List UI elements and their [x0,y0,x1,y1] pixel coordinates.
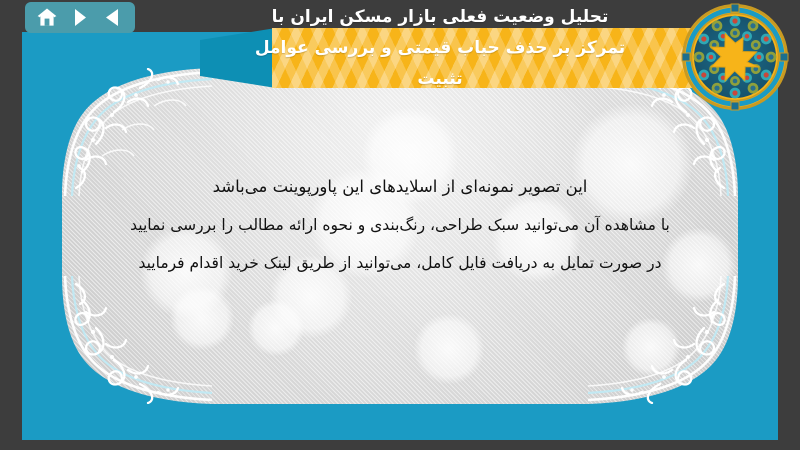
slide-preview-stage: این تصویر نمونه‌ای از اسلایدهای این پاور… [0,0,800,450]
navigation-bar [25,2,135,33]
title-line: تمرکز بر حذف حباب قیمتی و بررسی عوامل [230,33,650,64]
body-line: این تصویر نمونه‌ای از اسلایدهای این پاور… [122,168,678,206]
arabesque-corner-ornament-icon [62,276,212,404]
title-line: تحلیل وضعیت فعلی بازار مسکن ایران با [230,2,650,33]
bokeh-circle [248,300,304,356]
body-line: در صورت تمایل به دریافت فایل کامل، می‌تو… [122,244,678,282]
title-line: تثبیت [230,64,650,95]
bokeh-circle [414,314,484,384]
slide-body-text: این تصویر نمونه‌ای از اسلایدهای این پاور… [122,168,678,282]
next-slide-button[interactable] [67,6,93,30]
triangle-left-icon [104,8,121,27]
home-button[interactable] [34,6,60,30]
home-icon [36,7,58,28]
bokeh-circle [170,286,234,350]
triangle-right-icon [73,8,88,27]
slide-title: تحلیل وضعیت فعلی بازار مسکن ایران با تمر… [230,2,650,95]
body-line: با مشاهده آن می‌توانید سبک طراحی، رنگ‌بن… [122,206,678,244]
bokeh-circle [622,318,680,376]
arabesque-corner-ornament-icon [588,276,738,404]
slide-content-panel: این تصویر نمونه‌ای از اسلایدهای این پاور… [62,68,738,404]
previous-slide-button[interactable] [100,6,126,30]
